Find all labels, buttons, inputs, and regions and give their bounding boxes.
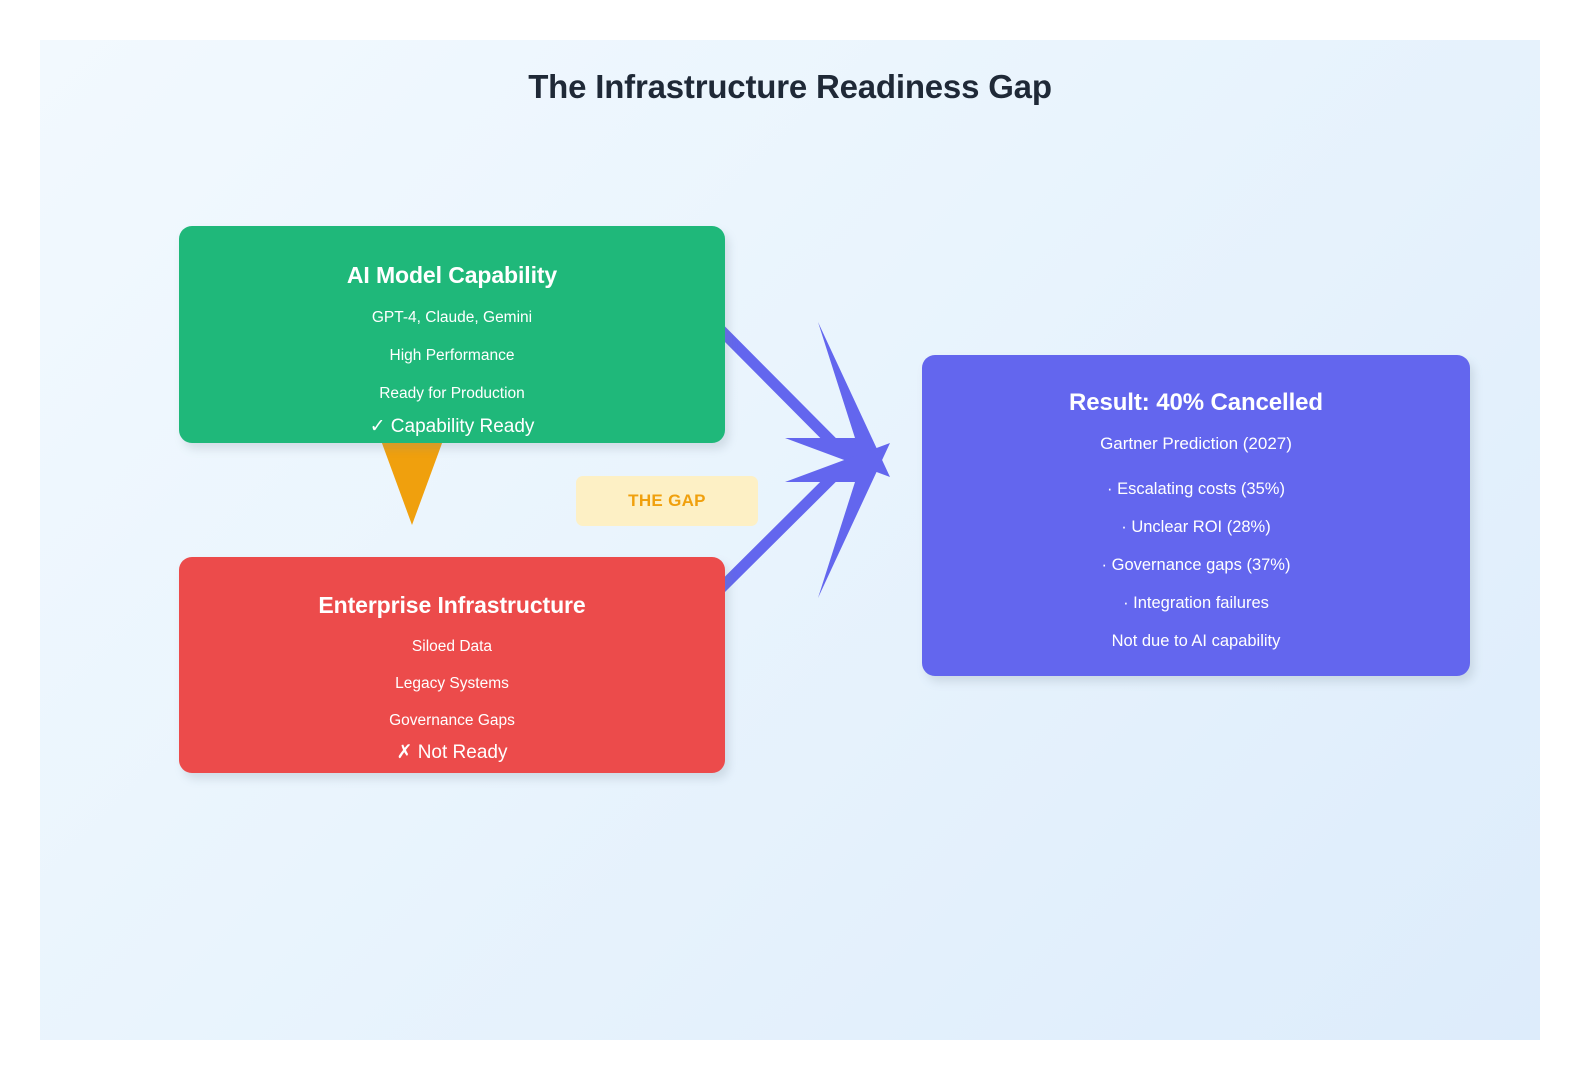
list-item: · Escalating costs (35%) [922,480,1470,499]
node-detail-line: High Performance [179,347,725,365]
node-enterprise-infrastructure[interactable]: Enterprise Infrastructure Siloed Data Le… [179,557,725,773]
node-subtitle: Gartner Prediction (2027) [922,434,1470,454]
node-detail-line: Ready for Production [179,385,725,403]
list-item: · Governance gaps (37%) [922,556,1470,575]
node-detail-line: Siloed Data [179,638,725,656]
gap-label-badge: THE GAP [576,476,758,526]
node-result[interactable]: Result: 40% Cancelled Gartner Prediction… [922,355,1470,676]
status-badge-not-ready: ✗ Not Ready [179,741,725,764]
node-detail-line: GPT-4, Claude, Gemini [179,309,725,327]
node-title: Result: 40% Cancelled [922,389,1470,417]
node-detail-line: Governance Gaps [179,712,725,730]
diagram-canvas: The Infrastructure Readiness Gap AI Mode… [40,40,1540,1040]
result-bullet-list: · Escalating costs (35%) · Unclear ROI (… [922,480,1470,613]
result-footer-note: Not due to AI capability [922,632,1470,651]
list-item: · Unclear ROI (28%) [922,518,1470,537]
status-badge-ready: ✓ Capability Ready [179,415,725,438]
node-ai-model-capability[interactable]: AI Model Capability GPT-4, Claude, Gemin… [179,226,725,443]
list-item: · Integration failures [922,594,1470,613]
node-detail-line: Legacy Systems [179,675,725,693]
node-title: Enterprise Infrastructure [179,592,725,619]
gap-label-text: THE GAP [628,491,706,511]
node-title: AI Model Capability [179,262,725,289]
